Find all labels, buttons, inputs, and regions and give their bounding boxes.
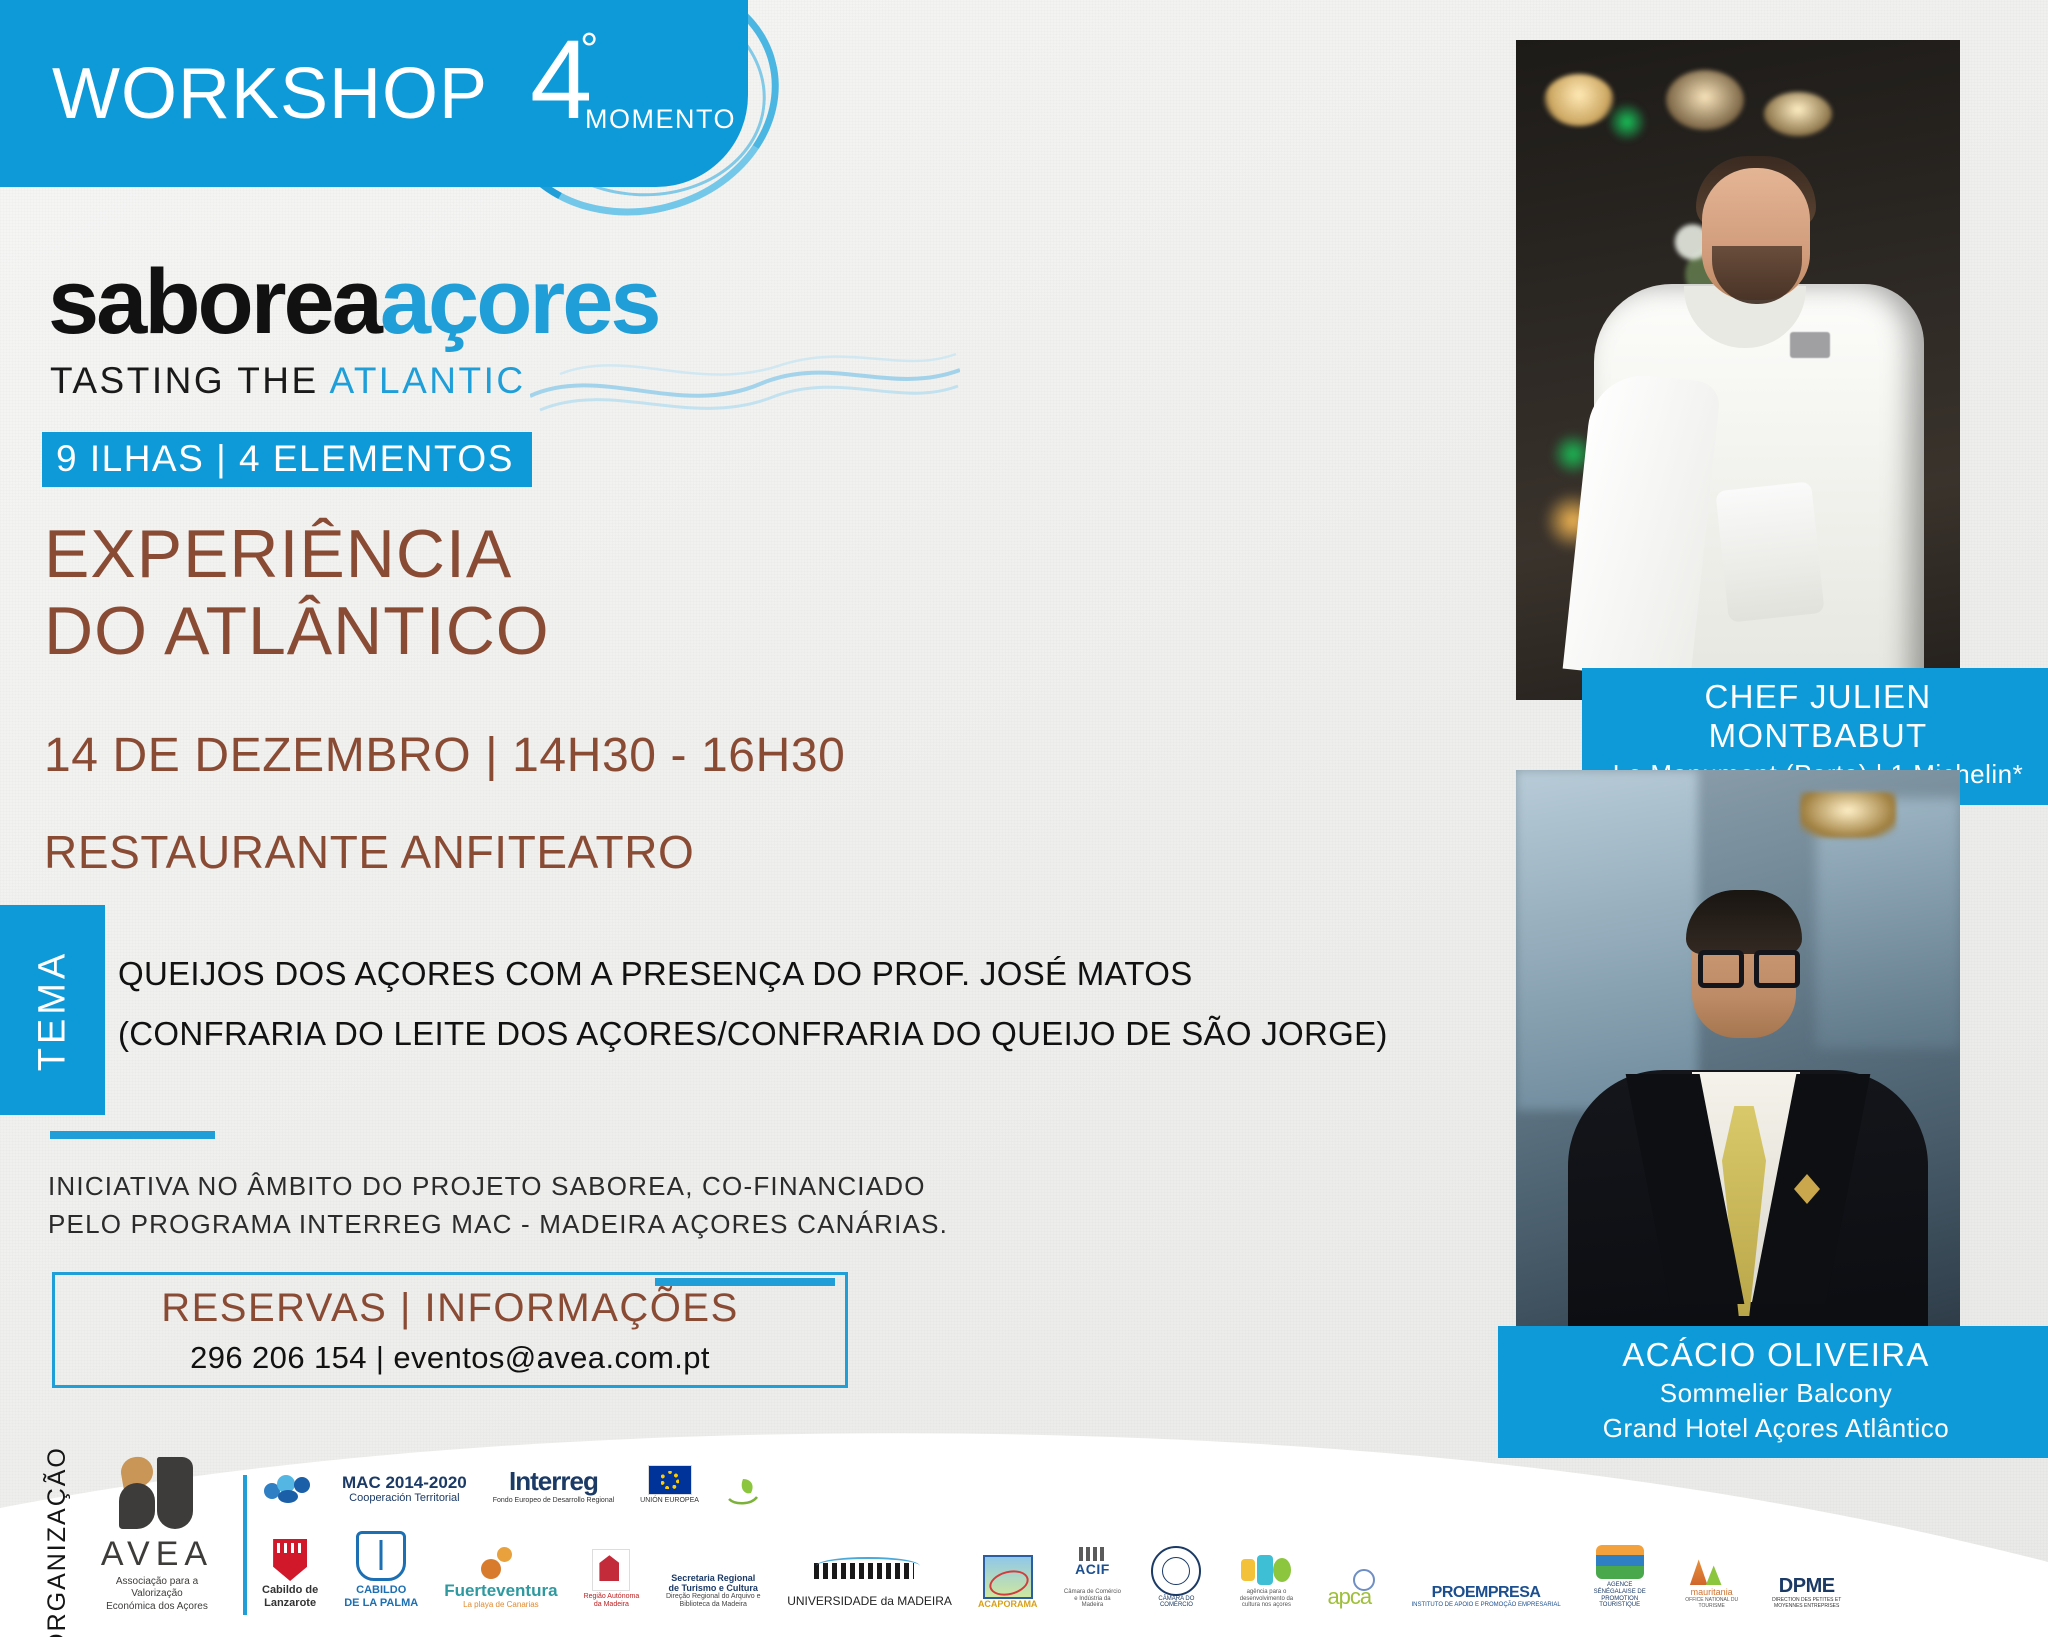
financing-line1: INICIATIVA NO ÂMBITO DO PROJETO SABOREA,… — [48, 1168, 948, 1206]
financing-line2: PELO PROGRAMA INTERREG MAC - MADEIRA AÇO… — [48, 1206, 948, 1244]
interreg-title: Interreg — [509, 1467, 598, 1497]
madeira-crest-icon — [592, 1549, 630, 1591]
partner-logos: MAC 2014-2020 Cooperación Territorial In… — [258, 1459, 2028, 1627]
financing-note: INICIATIVA NO ÂMBITO DO PROJETO SABOREA,… — [48, 1168, 948, 1243]
workshop-momento-label: MOMENTO — [585, 104, 736, 135]
logo-mac — [264, 1475, 316, 1505]
la-palma-subtitle: DE LA PALMA — [344, 1597, 418, 1610]
ceiling-lamp-icon — [1800, 792, 1896, 838]
avea-name: AVEA — [92, 1537, 222, 1571]
fuerteventura-subtitle: La playa de Canarias — [463, 1600, 539, 1609]
pendant-lamp-icon — [1764, 92, 1832, 136]
partner-logos-row-2: Cabildo de Lanzarote CABILDO DE LA PALMA… — [262, 1531, 1843, 1609]
acif-icon: ACIF — [1066, 1547, 1118, 1589]
universidade-madeira-icon — [810, 1555, 930, 1595]
eu-subtitle: UNIÓN EUROPEA — [640, 1497, 699, 1505]
poster-root: WORKSHOP 4 ° MOMENTO saboreaaçores TASTI… — [0, 0, 2048, 1637]
avea-subtitle-line2: Económica dos Açores — [92, 1601, 222, 1614]
adc-subtitle: agência para o desenvolvimento da cultur… — [1231, 1589, 1301, 1610]
avea-shape-dark-left — [119, 1483, 155, 1529]
logo-dpme: DPME DIRECTION DES PETITES ET MOYENNES E… — [1771, 1575, 1843, 1610]
logo-secretaria-turismo: Secretaria Regional de Turismo e Cultura… — [665, 1573, 761, 1610]
footer-vertical-divider — [243, 1475, 247, 1615]
logo-cabildo-lanzarote: Cabildo de Lanzarote — [262, 1539, 318, 1609]
event-title: EXPERIÊNCIA DO ATLÂNTICO — [44, 516, 550, 670]
logo-fuerteventura: Fuerteventura La playa de Canarias — [444, 1547, 557, 1610]
speaker-2-role-line1: Sommelier Balcony — [1520, 1377, 2032, 1410]
madeira-subtitle: da Madeira — [594, 1601, 629, 1609]
camara-title: CÂMARA DO COMÉRCIO — [1147, 1596, 1205, 1610]
reservations-contact[interactable]: 296 206 154 | eventos@avea.com.pt — [190, 1340, 710, 1376]
speaker-1-name: CHEF JULIEN MONTBABUT — [1604, 678, 2032, 756]
apca-title: apca — [1327, 1584, 1371, 1609]
adc-icon — [1241, 1555, 1291, 1589]
reservations-box[interactable]: RESERVAS | INFORMAÇÕES 296 206 154 | eve… — [52, 1272, 848, 1388]
acif-subtitle: Câmara de Comércio e Indústria da Madeir… — [1063, 1589, 1121, 1610]
logo-adc: agência para o desenvolvimento da cultur… — [1231, 1555, 1301, 1610]
acif-title: ACIF — [1075, 1561, 1110, 1577]
tema-line2: (CONFRARIA DO LEITE DOS AÇORES/CONFRARIA… — [118, 1015, 1388, 1053]
avea-mark-icon — [117, 1457, 197, 1531]
tema-label: TEMA — [31, 949, 74, 1071]
logo-senegal-tourism: AGENCE SÉNÉGALAISE DE PROMOTION TOURISTI… — [1587, 1545, 1653, 1610]
mac-subtitle: Cooperación Territorial — [349, 1492, 459, 1505]
water-wave-icon — [530, 340, 960, 430]
mauritania-subtitle: OFFICE NATIONAL DU TOURISME — [1679, 1598, 1745, 1610]
eu-flag-icon — [648, 1465, 692, 1495]
secretaria-subtitle: Direção Regional do Arquivo e Biblioteca… — [665, 1593, 761, 1609]
lanzarote-subtitle: Lanzarote — [264, 1597, 316, 1610]
avea-subtitle: Associação para a Valorização Económica … — [92, 1576, 222, 1614]
avea-shape-dark-right — [157, 1457, 193, 1529]
acapora-icon — [983, 1555, 1033, 1599]
la-palma-icon — [356, 1531, 406, 1581]
secretaria-title: Secretaria Regional de Turismo e Cultura — [665, 1573, 761, 1594]
fuerteventura-title: Fuerteventura — [444, 1581, 557, 1601]
brand-name-part1: saborea — [48, 251, 380, 353]
workshop-degree-symbol: ° — [580, 22, 598, 76]
leaf-hand-icon — [725, 1475, 761, 1505]
organization-tab: ORGANIZAÇÃO — [26, 1469, 88, 1629]
partner-logos-row-1: MAC 2014-2020 Cooperación Territorial In… — [264, 1465, 761, 1505]
proempresa-subtitle: INSTITUTO DE APOIO E PROMOÇÃO EMPRESARIA… — [1411, 1602, 1560, 1609]
pendant-lamp-icon — [1544, 74, 1614, 126]
event-venue: RESTAURANTE ANFITEATRO — [44, 825, 694, 879]
tagline-part1: TASTING THE — [50, 360, 329, 401]
organization-label: ORGANIZAÇÃO — [43, 1446, 72, 1637]
fuerteventura-icon — [479, 1547, 523, 1581]
event-title-line1: EXPERIÊNCIA — [44, 516, 550, 593]
footer: ORGANIZAÇÃO AVEA Associação para a Valor… — [0, 1457, 2048, 1637]
header-bar: WORKSHOP — [0, 0, 748, 187]
tema-line1: QUEIJOS DOS AÇORES COM A PRESENÇA DO PRO… — [118, 955, 1193, 993]
divider-rule-top — [50, 1131, 215, 1139]
logo-cabildo-la-palma: CABILDO DE LA PALMA — [344, 1531, 418, 1609]
eyeglasses-icon — [1754, 950, 1800, 988]
tagline-part2: ATLANTIC — [329, 360, 525, 401]
madeira-title: Região Autónoma — [584, 1593, 640, 1601]
logo-camara-comercio: CÂMARA DO COMÉRCIO — [1147, 1546, 1205, 1610]
logo-universidade-madeira: UNIVERSIDADE da MADEIRA — [787, 1555, 952, 1609]
mauritania-icon — [1688, 1553, 1736, 1587]
lanzarote-title: Cabildo de — [262, 1584, 318, 1597]
chef-towel — [1715, 481, 1824, 622]
avea-logo: AVEA Associação para a Valorização Econó… — [92, 1457, 222, 1614]
brand-tagline: TASTING THE ATLANTIC — [50, 362, 526, 399]
lanzarote-shield-icon — [273, 1539, 307, 1581]
logo-interreg: Interreg Fondo Europeo de Desarrollo Reg… — [493, 1467, 614, 1505]
event-datetime: 14 DE DEZEMBRO | 14H30 - 16H30 — [44, 728, 845, 783]
acif-crown-icon — [1079, 1547, 1105, 1561]
logo-mac-text: MAC 2014-2020 Cooperación Territorial — [342, 1473, 467, 1505]
avea-subtitle-line1: Associação para a Valorização — [92, 1576, 222, 1601]
brand-name-part2: açores — [380, 251, 659, 353]
speaker-photo-julien-montbabut — [1516, 40, 1960, 700]
camara-comercio-seal-icon — [1151, 1546, 1201, 1596]
acapora-title: ACAPORAMA — [978, 1599, 1038, 1609]
mac-title: MAC 2014-2020 — [342, 1473, 467, 1493]
logo-regiao-autonoma-madeira: Região Autónoma da Madeira — [584, 1549, 640, 1609]
green-bokeh-icon — [1608, 102, 1646, 142]
logo-mauritania-tourism: mauritania OFFICE NATIONAL DU TOURISME — [1679, 1553, 1745, 1609]
pendant-lamp-icon — [1666, 70, 1744, 130]
brand-wordmark: saboreaaçores — [48, 256, 659, 348]
logo-proempresa: PROEMPRESA INSTITUTO DE APOIO E PROMOÇÃO… — [1411, 1584, 1560, 1609]
proempresa-title: PROEMPRESA — [1432, 1584, 1541, 1602]
workshop-label: WORKSHOP — [52, 53, 488, 135]
logo-acif: ACIF Câmara de Comércio e Indústria da M… — [1063, 1547, 1121, 1610]
reservations-title: RESERVAS | INFORMAÇÕES — [161, 1285, 739, 1331]
senegal-wave-icon — [1596, 1545, 1644, 1579]
tema-tab: TEMA — [0, 905, 105, 1115]
interreg-subtitle: Fondo Europeo de Desarrollo Regional — [493, 1497, 614, 1505]
chef-name-badge — [1790, 332, 1830, 358]
la-palma-title: CABILDO — [356, 1584, 406, 1597]
senegal-subtitle: AGENCE SÉNÉGALAISE DE PROMOTION TOURISTI… — [1587, 1582, 1653, 1610]
speaker-photo-acacio-oliveira — [1516, 770, 1960, 1350]
dpme-subtitle: DIRECTION DES PETITES ET MOYENNES ENTREP… — [1771, 1598, 1843, 1610]
speaker-2-name: ACÁCIO OLIVEIRA — [1520, 1336, 2032, 1375]
universidade-title: UNIVERSIDADE da MADEIRA — [787, 1595, 952, 1609]
logo-acapora: ACAPORAMA — [978, 1555, 1038, 1609]
eyeglasses-icon — [1698, 950, 1744, 988]
logo-european-union: UNIÓN EUROPEA — [640, 1465, 699, 1505]
apca-icon: apca — [1327, 1569, 1385, 1609]
logo-leaf — [725, 1475, 761, 1505]
window-light-icon — [1516, 770, 1698, 1110]
logo-apca: apca — [1327, 1569, 1385, 1609]
dpme-title: DPME — [1779, 1575, 1835, 1598]
islands-elements-strip: 9 ILHAS | 4 ELEMENTOS — [42, 432, 532, 487]
mac-icon — [264, 1475, 316, 1505]
event-title-line2: DO ATLÂNTICO — [44, 593, 550, 670]
